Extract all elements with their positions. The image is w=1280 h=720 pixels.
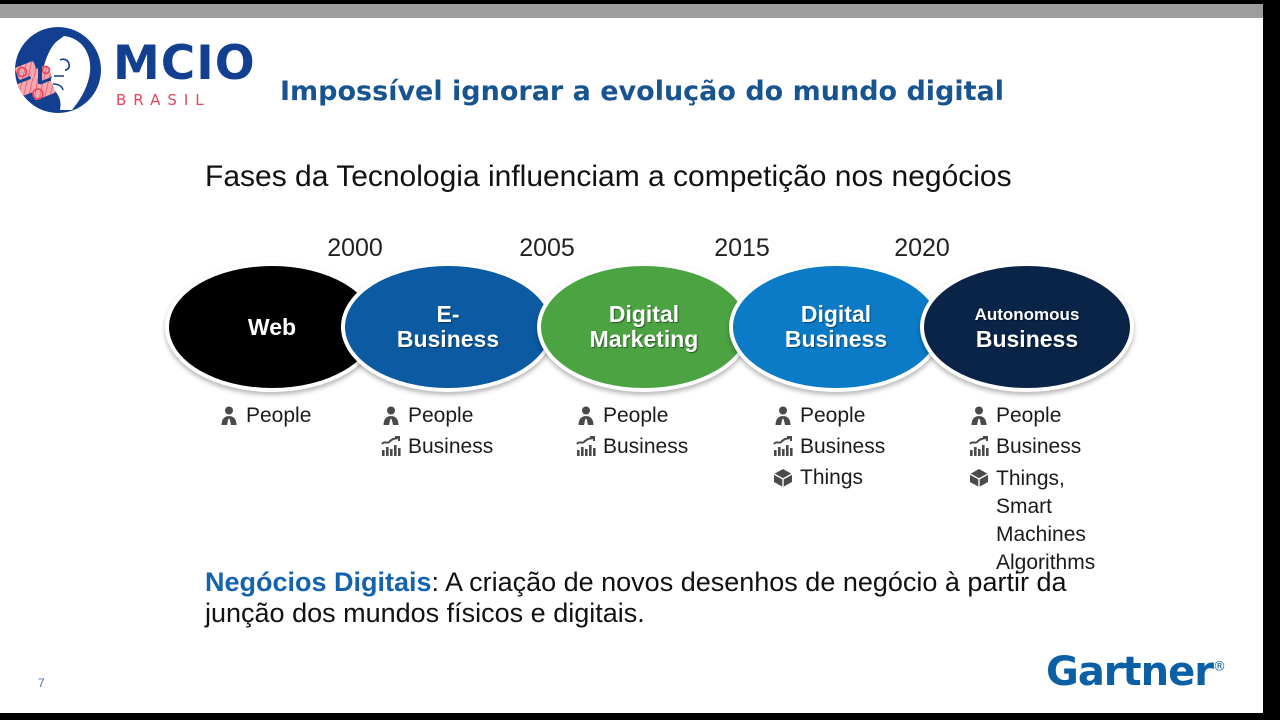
phase-label-line2: Business <box>397 327 499 352</box>
bar-chart-icon <box>575 436 603 460</box>
year-label-2020: 2020 <box>862 234 982 263</box>
person-icon <box>772 405 800 429</box>
phase-label-line1: Digital <box>785 302 887 327</box>
feature-item: Business <box>575 435 775 466</box>
logo-wordmark: MCIO BRASIL <box>113 40 256 109</box>
phase-label-line2: Business <box>975 327 1080 352</box>
mcio-logo: MCIO BRASIL <box>8 20 258 120</box>
feature-label: Business <box>800 435 885 459</box>
feature-item: People <box>968 404 1168 435</box>
bar-chart-icon <box>380 436 408 460</box>
logo-subtitle: BRASIL <box>116 91 256 109</box>
phase-label-line1: Digital <box>590 302 699 327</box>
feature-label: People <box>408 404 473 428</box>
feature-label: People <box>800 404 865 428</box>
phase-label-autonomous-business: Autonomous Business <box>975 302 1080 352</box>
phase-label-line2: Business <box>785 327 887 352</box>
diagram-subtitle: Fases da Tecnologia influenciam a compet… <box>205 160 1012 194</box>
feature-column-digital-business: People Business <box>772 404 972 497</box>
person-icon <box>968 405 996 429</box>
feature-label: Business <box>603 435 688 459</box>
gartner-logo: Gartner® <box>1046 649 1225 695</box>
feature-item: People <box>772 404 972 435</box>
feature-item: Business <box>380 435 580 466</box>
feature-column-digital-marketing: People Business <box>575 404 775 466</box>
feature-label: Business <box>408 435 493 459</box>
phase-label-digital-marketing: Digital Marketing <box>590 302 699 352</box>
phase-ellipse-digital-marketing[interactable]: Digital Marketing <box>537 262 751 392</box>
bottom-black-bar <box>0 713 1280 720</box>
phase-feature-columns: People People <box>0 404 1280 564</box>
cube-icon <box>968 467 996 491</box>
feature-item: Business <box>968 435 1168 466</box>
feature-item: People <box>380 404 580 435</box>
feature-label: Business <box>996 435 1081 459</box>
feature-label: People <box>603 404 668 428</box>
phase-label-e-business: E- Business <box>397 302 499 352</box>
phase-ellipse-e-business[interactable]: E- Business <box>341 262 555 392</box>
phase-ellipse-digital-business[interactable]: Digital Business <box>729 262 943 392</box>
phase-label-web: Web <box>248 315 296 340</box>
phase-label-line1: Autonomous <box>975 302 1080 327</box>
logo-name: MCIO <box>113 40 256 88</box>
definition-term: Negócios Digitais <box>205 567 432 597</box>
year-label-2000: 2000 <box>295 234 415 263</box>
phase-ellipse-autonomous-business[interactable]: Autonomous Business <box>920 262 1134 392</box>
feature-extra-item: Things, <box>996 465 1168 493</box>
page-title: Impossível ignorar a evolução do mundo d… <box>280 76 1004 107</box>
phase-label-digital-business: Digital Business <box>785 302 887 352</box>
feature-item: Things <box>772 466 972 497</box>
feature-extra-item: Smart <box>996 493 1168 521</box>
definition-paragraph: Negócios Digitais: A criação de novos de… <box>205 567 1085 629</box>
slide-canvas: MCIO BRASIL Impossível ignorar a evoluçã… <box>0 0 1280 720</box>
feature-column-e-business: People Business <box>380 404 580 466</box>
cube-icon <box>772 467 800 491</box>
feature-item: People <box>575 404 775 435</box>
bar-chart-icon <box>772 436 800 460</box>
person-icon <box>218 405 246 429</box>
feature-label: Things <box>800 466 863 490</box>
phase-ellipse-row: Web E- Business Digital Marketing Digita… <box>0 262 1280 394</box>
feature-extra-item: Machines <box>996 521 1168 549</box>
person-icon <box>380 405 408 429</box>
woman-profile-emblem-icon <box>8 20 108 120</box>
feature-item: Business <box>772 435 972 466</box>
page-number: 7 <box>38 676 45 690</box>
phase-label-line1: E- <box>397 302 499 327</box>
top-gray-bar <box>0 4 1263 18</box>
feature-extra-list: Things, Smart Machines Algorithms <box>996 465 1168 577</box>
year-label-2015: 2015 <box>682 234 802 263</box>
registered-trademark-icon: ® <box>1213 660 1225 675</box>
year-label-2005: 2005 <box>487 234 607 263</box>
feature-column-autonomous-business: People Business <box>968 404 1168 577</box>
phase-label-line2: Marketing <box>590 327 699 352</box>
feature-label: People <box>246 404 311 428</box>
bar-chart-icon <box>968 436 996 460</box>
person-icon <box>575 405 603 429</box>
feature-label: People <box>996 404 1061 428</box>
gartner-wordmark: Gartner <box>1046 649 1213 695</box>
